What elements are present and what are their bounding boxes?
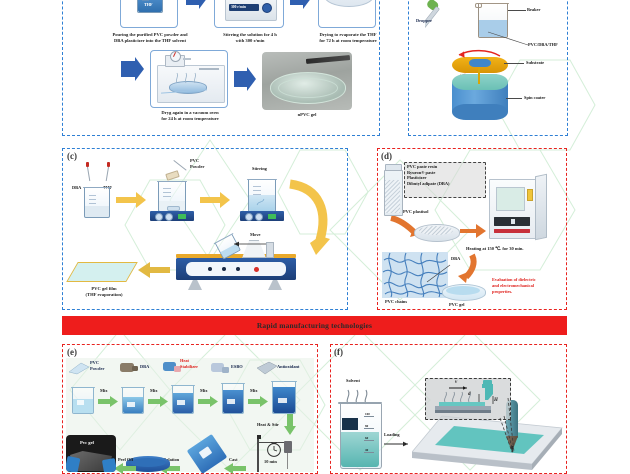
pvc-dba-thf-label: PVC/DBA/THF: [528, 42, 558, 47]
pvc-plastisol-label: PVC plastisol: [403, 209, 429, 214]
step-a1-tile: THF: [120, 0, 178, 28]
mix-arrow-3: [198, 396, 218, 407]
loading-arrow: [384, 440, 414, 448]
loading-label: Loading: [384, 432, 400, 437]
panel-e-label: (e): [67, 347, 77, 357]
hotplate-2-knob-b: [255, 213, 263, 221]
panel-c-label: (c): [67, 151, 77, 161]
pvc-mix-beaker-1: [158, 182, 186, 212]
figure-canvas: (a) THF Pouring the purified PVC powder …: [0, 0, 630, 472]
mix-beaker-1: [72, 388, 94, 414]
arrow-d3: [452, 253, 478, 285]
heat-stir-label: Heat & Stir: [257, 422, 279, 427]
dba-label-c: DBA: [72, 185, 81, 190]
pvc-gel-film-label: PVC gel film (THF evaporation): [66, 286, 142, 298]
rapid-manufacturing-banner: Rapid manufacturing technologies: [62, 316, 567, 335]
heating-label: Heating at 150 ℃. for 30 min.: [466, 246, 523, 252]
mix-beaker-2: [122, 388, 144, 414]
arrow-c4: [138, 262, 170, 278]
step-a1-caption: Pouring the purified PVC powder and DBA …: [80, 32, 220, 44]
arrow-c1: [116, 192, 146, 208]
cylinder-tick-1: 100: [365, 412, 370, 416]
mix-beaker-5: [272, 382, 296, 414]
hotplate-1-knob-a: [155, 213, 163, 221]
ingredient-label-1: PVC Powder: [90, 360, 104, 371]
velocity-symbol: v: [455, 380, 457, 385]
hotplate-2-indicator: [268, 214, 276, 219]
ingredient-label-5: Antioxidant: [277, 364, 299, 369]
pvc-powder-scoop-icon-e: [68, 361, 90, 375]
dropper-icon: [425, 0, 465, 32]
pvc-gel-label-d: PVC gel: [449, 302, 465, 307]
dba-bottle-icon-e: [118, 360, 140, 376]
rotation-arrow-top: [452, 48, 506, 60]
pvc-gel-film: [66, 262, 138, 282]
peel-off-label: Peel Off: [118, 457, 133, 462]
solvent-beaker-f: 100 80 60 40: [340, 404, 380, 468]
heating-oven: [489, 175, 545, 241]
spin-coater-label: Spin coater: [524, 95, 545, 100]
spin-coater-leader-line: [506, 98, 522, 99]
pvc-powder-label-c: PVC Powder: [190, 158, 204, 169]
solution-leader-line: [486, 30, 530, 48]
banner-label: Rapid manufacturing technologies: [257, 321, 372, 330]
mix-label-2: Mix: [150, 388, 158, 393]
pvc-powder-scoop-icon: [166, 158, 192, 178]
arrow-c2: [200, 192, 230, 208]
step-a3-caption: Drying to evaporate the THF for 72 h at …: [306, 32, 390, 44]
stirring-label-c: Stirring: [252, 166, 267, 171]
pvc-chains-label: PVC chains: [385, 299, 407, 304]
timer-label: 10 min: [264, 459, 277, 464]
mix-arrow-1: [98, 396, 118, 407]
npvc-gel-photo: [262, 52, 352, 110]
step-a3-tile: Solution: [318, 0, 376, 28]
arrow-a2: [288, 0, 314, 10]
esbo-bottle-icon-e: [209, 361, 231, 377]
beaker-label: Beaker: [527, 7, 540, 12]
ingredient-label-3: Heat Stabilizer: [180, 358, 198, 369]
dba-leader-line-d: [424, 262, 454, 284]
mix-label-4: Mix: [250, 388, 258, 393]
mix-label-3: Mix: [200, 388, 208, 393]
step-a4-tile: [150, 50, 228, 108]
cast-label: Cast: [229, 457, 238, 462]
cylinder-tick-2: 80: [365, 424, 368, 428]
mix-beaker-4: [222, 384, 244, 414]
ingredient-label-2: DBA: [140, 364, 149, 369]
dba-pipette-icon: [80, 162, 96, 182]
mix-label-1: Mix: [100, 388, 108, 393]
cast-arrow: [224, 463, 246, 474]
panel-f-label: (f): [334, 347, 343, 357]
substrate-label: Substrate: [526, 60, 544, 65]
solvent-label: Solvent: [346, 378, 360, 383]
ingredient-label-4: ESBO: [231, 364, 243, 369]
arrow-a4: [232, 66, 258, 92]
hotplate-2-knob-a: [245, 213, 253, 221]
antioxidant-scoop-icon-e: [256, 361, 278, 375]
substrate-leader-line: [504, 63, 524, 64]
pvc-gel-photo-label: Pvc gel: [80, 440, 94, 445]
step-a4-caption: Dryg again in a vacuum oven for 24 h at …: [152, 110, 228, 122]
pvc-resin-vial: [384, 164, 401, 214]
move-label-c: Move: [250, 232, 260, 237]
plastisol-petri-dish: [414, 222, 458, 242]
substrate-center: [469, 59, 491, 67]
cylinder-tick-3: 60: [365, 436, 368, 440]
step-a2-tile: 300 r/min: [214, 0, 284, 28]
arrow-a1: [184, 0, 210, 10]
step-a2-caption: Stirring the solution for 4 h with 300 r…: [212, 32, 288, 44]
hotplate-1-indicator: [178, 214, 186, 219]
caster-top-rail: [176, 254, 296, 258]
step-a5-caption: nPVC gel: [272, 112, 342, 118]
thf-pipette-icon: [100, 162, 116, 182]
stirrer-rpm-display: 300 r/min: [231, 5, 246, 9]
spin-coater-body: [452, 74, 508, 116]
dba-thf-beaker: [84, 188, 110, 218]
timer-icon: [265, 440, 283, 458]
move-arrow-c: [228, 240, 268, 248]
hotplate-1-knob-b: [165, 213, 173, 221]
mix-beaker-3: [172, 386, 194, 414]
callout-connector-lines: [460, 396, 530, 458]
arrow-a3: [118, 56, 146, 82]
evaluation-text: Evaluation of dielectric and electromech…: [492, 277, 536, 295]
pvc-gel-photo-e: Pvc gel: [66, 435, 116, 472]
pvc-gel-dish: [442, 283, 484, 301]
pvc-mix-beaker-2: [248, 180, 276, 212]
panel-d-label: (d): [381, 151, 392, 161]
peel-off-arrow: [114, 463, 136, 474]
arrow-d2: [460, 224, 486, 238]
beaker-leader-line: [508, 10, 526, 11]
recipe-text: PVC paste resin Ryuron® paste Plasticize…: [407, 164, 449, 187]
mix-arrow-4: [248, 396, 268, 407]
thf-beaker: THF: [137, 0, 163, 13]
cylinder-tick-4: 40: [365, 448, 368, 452]
dropper-label: Dropper: [416, 18, 432, 23]
thf-liquid-label: THF: [144, 2, 153, 7]
caster-dot-red: [254, 267, 259, 272]
mix-arrow-2: [148, 396, 168, 407]
